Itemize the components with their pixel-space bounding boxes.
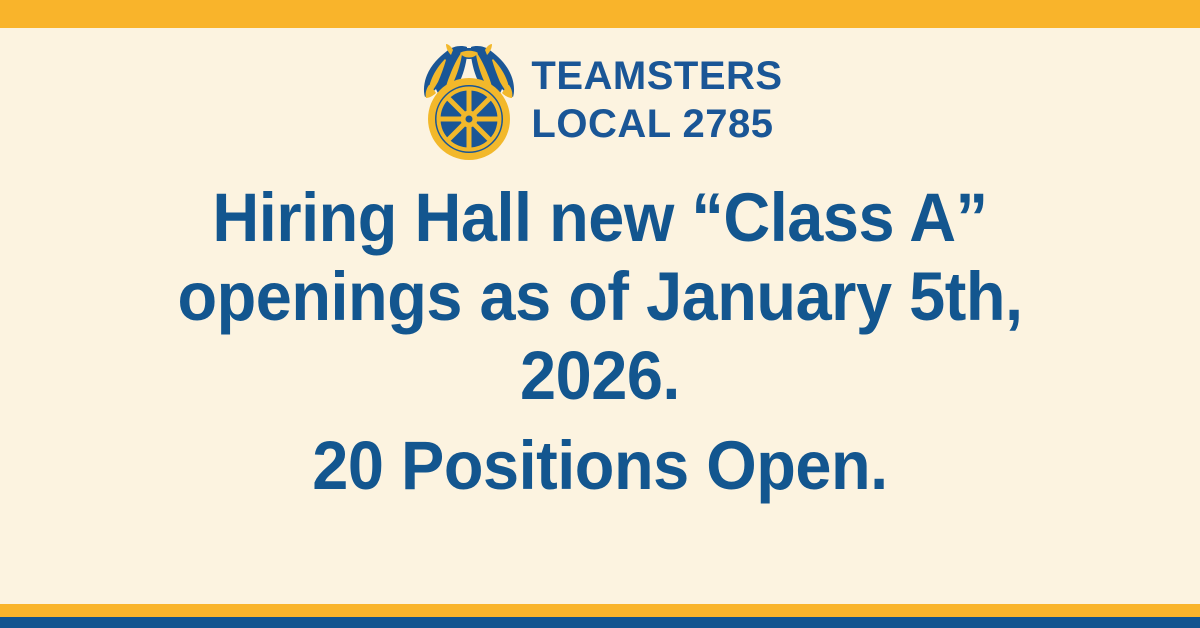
headline-paragraph-positions: 20 Positions Open. — [69, 426, 1131, 505]
logo-wordmark-line-teamsters: TEAMSTERS — [531, 56, 782, 96]
bottom-gold-band — [0, 604, 1200, 617]
announcement-poster: TEAMSTERS LOCAL 2785 Hiring Hall new “Cl… — [0, 0, 1200, 628]
logo-wordmark: TEAMSTERS LOCAL 2785 — [531, 56, 782, 144]
top-gold-band — [0, 0, 1200, 28]
headline-paragraph-openings: Hiring Hall new “Class A” openings as of… — [69, 178, 1131, 415]
logo-wordmark-line-local-number: LOCAL 2785 — [531, 104, 782, 144]
headline-line-2: openings as of January 5th, — [69, 257, 1131, 336]
bottom-blue-band — [0, 617, 1200, 628]
headline-block: Hiring Hall new “Class A” openings as of… — [69, 178, 1131, 505]
teamsters-local-2785-logo: TEAMSTERS LOCAL 2785 — [417, 37, 782, 162]
headline-line-3: 2026. — [69, 336, 1131, 415]
headline-line-4: 20 Positions Open. — [69, 426, 1131, 505]
poster-content: TEAMSTERS LOCAL 2785 Hiring Hall new “Cl… — [0, 28, 1200, 604]
teamsters-horses-wheel-emblem-icon — [417, 37, 521, 162]
headline-line-1: Hiring Hall new “Class A” — [69, 178, 1131, 257]
